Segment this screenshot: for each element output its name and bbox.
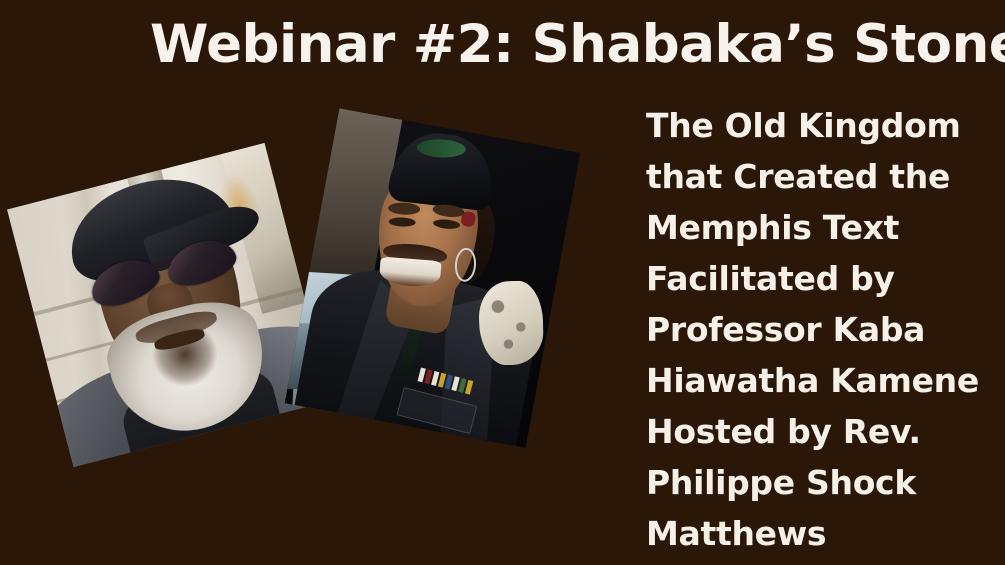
- body-line: Professor Kaba: [646, 304, 991, 355]
- body-line: Hiawatha Kamene: [646, 355, 991, 406]
- body-line: Memphis Text: [646, 202, 991, 253]
- body-line: Matthews: [646, 508, 991, 559]
- webinar-title-slide: Webinar #2: Shabaka’s Stone: [0, 0, 1005, 565]
- body-line: Hosted by Rev.: [646, 406, 991, 457]
- right-photo-canvas: [285, 108, 581, 448]
- body-line: that Created the: [646, 151, 991, 202]
- photo-selfie-man-with-cap-and-white-beard: [7, 143, 331, 467]
- page-title: Webinar #2: Shabaka’s Stone: [150, 14, 910, 76]
- body-text-block: The Old Kingdom that Created the Memphis…: [646, 100, 991, 559]
- body-line: Facilitated by: [646, 253, 991, 304]
- body-line: Philippe Shock: [646, 457, 991, 508]
- right-photo-pocket-square: [478, 280, 544, 366]
- left-photo-canvas: [7, 143, 331, 467]
- photo-smiling-man-in-kufi: [285, 108, 581, 448]
- body-line: The Old Kingdom: [646, 100, 991, 151]
